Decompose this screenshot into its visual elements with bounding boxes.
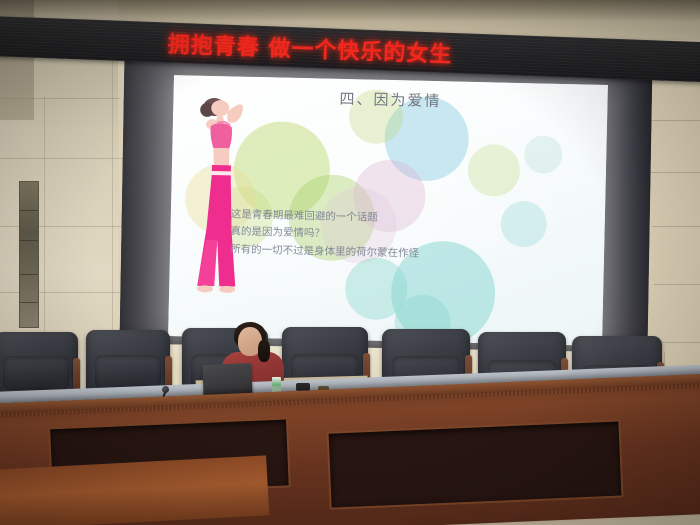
wall-speaker-column [19,181,39,328]
presenter-hair-side [258,340,270,362]
wall-seam-vertical [44,96,45,332]
bubble-mint-far [524,135,563,174]
desk-inset-panel-right [327,419,624,509]
wall-seam [0,98,120,99]
led-banner-text: 拥抱青春 做一个快乐的女生 [167,27,453,69]
laptop[interactable] [202,363,252,397]
wall-seam-vertical [112,56,113,332]
wall-seam [654,284,700,285]
bubble-teal-right [500,201,547,248]
bubble-green-right [467,144,520,197]
stretching-woman-illustration [183,89,266,303]
wall-seam [652,226,700,227]
wall-seam [650,172,700,173]
projected-slide: 四、因为爱情 这是青春期最难回避的一个话题真的是因为爱情吗？所有的一切不过是身体… [168,75,608,346]
microphone-head [162,386,169,393]
banner-drop-shadow [0,0,700,22]
slide-bullet-list: 这是青春期最难回避的一个话题真的是因为爱情吗？所有的一切不过是身体里的荷尔蒙在作… [217,206,448,263]
wall-seam [0,158,122,159]
conference-hall-photo: 四、因为爱情 这是青春期最难回避的一个话题真的是因为爱情吗？所有的一切不过是身体… [0,0,700,525]
wall-seam [648,120,700,121]
